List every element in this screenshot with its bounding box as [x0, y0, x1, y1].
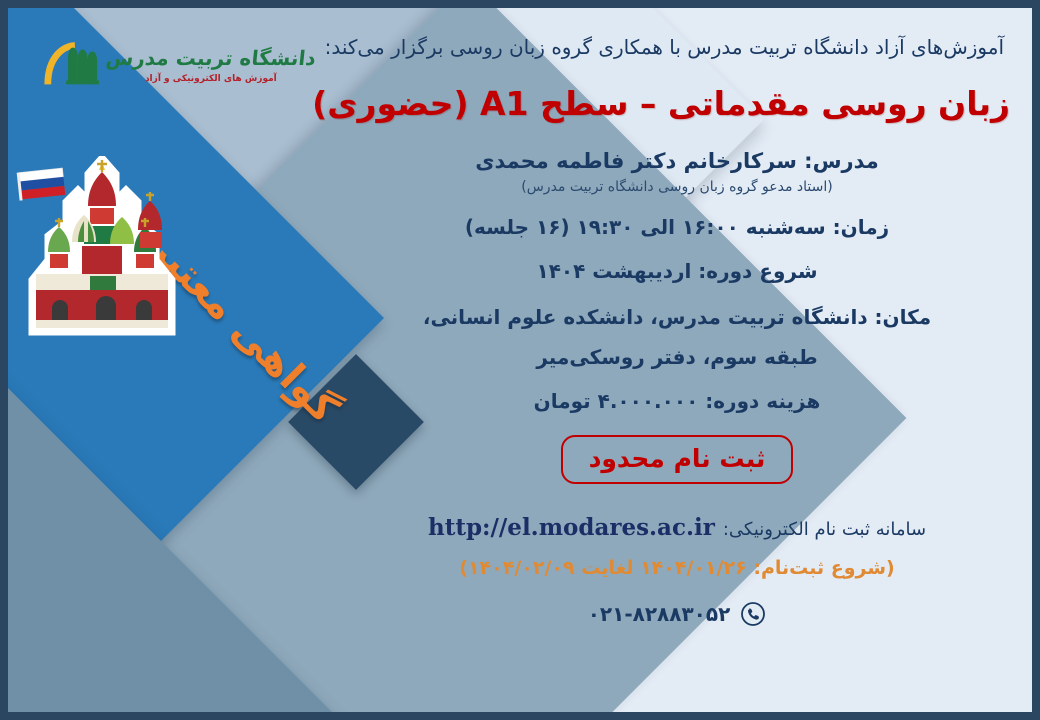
phone-row: ۰۲۱-۸۲۸۸۳۰۵۲: [344, 601, 1010, 627]
location-line-1: مکان: دانشگاه تربیت مدرس، دانشکده علوم ا…: [344, 305, 1010, 329]
schedule-line: زمان: سه‌شنبه ۱۶:۰۰ الی ۱۹:۳۰ (۱۶ جلسه): [344, 215, 1010, 239]
university-logo: دانشگاه تربیت مدرس آموزش های الکترونیکی …: [42, 30, 274, 100]
phone-icon: [740, 601, 766, 627]
poster: گواهی معتبر دانشگاه تربیت مدرس آموزش های…: [0, 0, 1040, 720]
location-line-2: طبقه سوم، دفتر روسکی‌میر: [344, 345, 1010, 369]
tulip-emblem-icon: [42, 36, 100, 94]
phone-number: ۰۲۱-۸۲۸۸۳۰۵۲: [588, 602, 731, 626]
fee-line: هزینه دوره: ۴.۰۰۰.۰۰۰ تومان: [344, 389, 1010, 413]
registration-url-label: سامانه ثبت نام الکترونیکی:: [723, 519, 926, 540]
logo-wordmark: دانشگاه تربیت مدرس آموزش های الکترونیکی …: [106, 46, 316, 84]
poster-canvas: گواهی معتبر دانشگاه تربیت مدرس آموزش های…: [8, 8, 1032, 712]
instructor-affiliation: (استاد مدعو گروه زبان روسی دانشگاه تربیت…: [344, 179, 1010, 195]
registration-url-row: سامانه ثبت نام الکترونیکی: http://el.mod…: [344, 514, 1010, 541]
page-title: زبان روسی مقدماتی – سطح A1 (حضوری): [344, 84, 1010, 123]
limited-registration-badge[interactable]: ثبت نام محدود: [561, 435, 794, 484]
registration-window-line: (شروع ثبت‌نام: ۱۴۰۴/۰۱/۲۶ لغایت ۱۴۰۴/۰۲/…: [344, 557, 1010, 579]
registration-badge-wrap: ثبت نام محدود: [344, 435, 1010, 484]
logo-main-text: دانشگاه تربیت مدرس: [105, 46, 317, 70]
logo-sub-text: آموزش های الکترونیکی و آزاد: [145, 74, 277, 84]
content-column: آموزش‌های آزاد دانشگاه تربیت مدرس با همک…: [332, 8, 1032, 712]
saint-basils-cathedral-icon: [18, 156, 186, 338]
start-date-line: شروع دوره: اردیبهشت ۱۴۰۴: [344, 259, 1010, 283]
registration-url-link[interactable]: http://el.modares.ac.ir: [428, 514, 715, 541]
instructor-line: مدرس: سرکارخانم دکتر فاطمه محمدی: [344, 149, 1010, 173]
kicker-line: آموزش‌های آزاد دانشگاه تربیت مدرس با همک…: [344, 32, 1004, 62]
